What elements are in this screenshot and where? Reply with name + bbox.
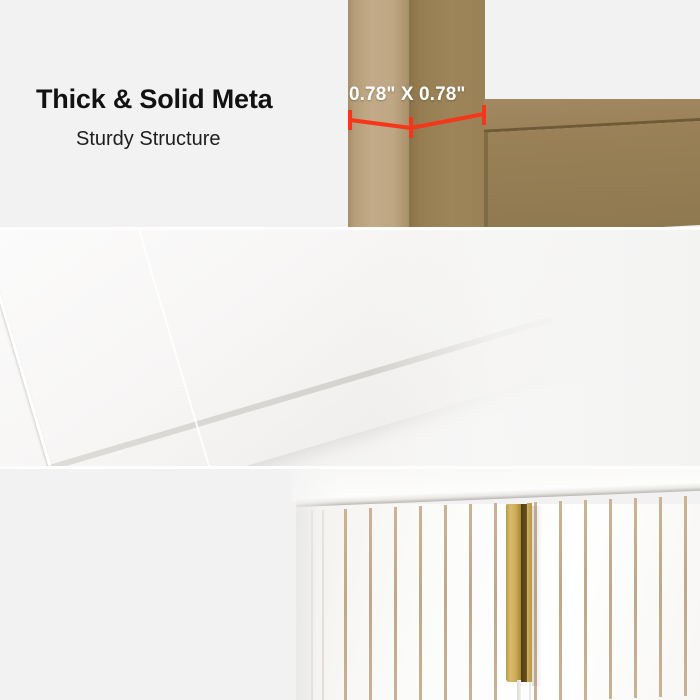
handle-front-face	[506, 504, 521, 682]
rail-front-face	[484, 120, 700, 229]
door-front-panel	[300, 504, 700, 700]
door-slat	[659, 497, 662, 697]
fluted-door-photo	[0, 468, 700, 700]
handle-cast-shadow	[532, 506, 542, 686]
door-slat	[584, 500, 587, 700]
cabinet-hinge-photo	[0, 229, 700, 468]
door-slat	[369, 508, 372, 700]
door-slat	[559, 501, 562, 700]
product-feature-infographic: 0.78" X 0.78" Thick & Solid Meta Sturdy …	[0, 0, 700, 700]
panel-damper-hinges: Damper Hinges Keep Silence When Close or…	[0, 229, 700, 468]
panel-divider-2	[0, 466, 700, 469]
door-slat	[444, 505, 447, 700]
dimension-measure-arrows	[338, 100, 498, 142]
door-slat	[609, 499, 612, 699]
panel-1-title: Thick & Solid Meta	[36, 82, 272, 116]
feature-text-thick-solid-metal: Thick & Solid Meta Sturdy Structure	[36, 82, 272, 153]
panel-premium-handles: Premium Handles Sophisticated and Non-fa…	[0, 468, 700, 700]
door-slat	[634, 498, 637, 698]
panel-2-fade-overlay	[370, 229, 700, 468]
door-slat	[469, 504, 472, 700]
door-slat	[394, 507, 397, 700]
panel-3-fade-overlay	[0, 468, 340, 700]
door-slat	[684, 496, 687, 696]
door-slat	[344, 509, 347, 700]
rail-end-cap	[484, 132, 488, 229]
horizontal-rail	[484, 99, 700, 229]
door-slat	[419, 506, 422, 700]
panel-thick-solid-metal: 0.78" X 0.78" Thick & Solid Meta Sturdy …	[0, 0, 700, 229]
panel-1-subtitle: Sturdy Structure	[76, 125, 272, 153]
handle-lower-stem	[517, 680, 521, 700]
door-slat	[494, 503, 497, 700]
panel-divider-1	[0, 227, 700, 230]
